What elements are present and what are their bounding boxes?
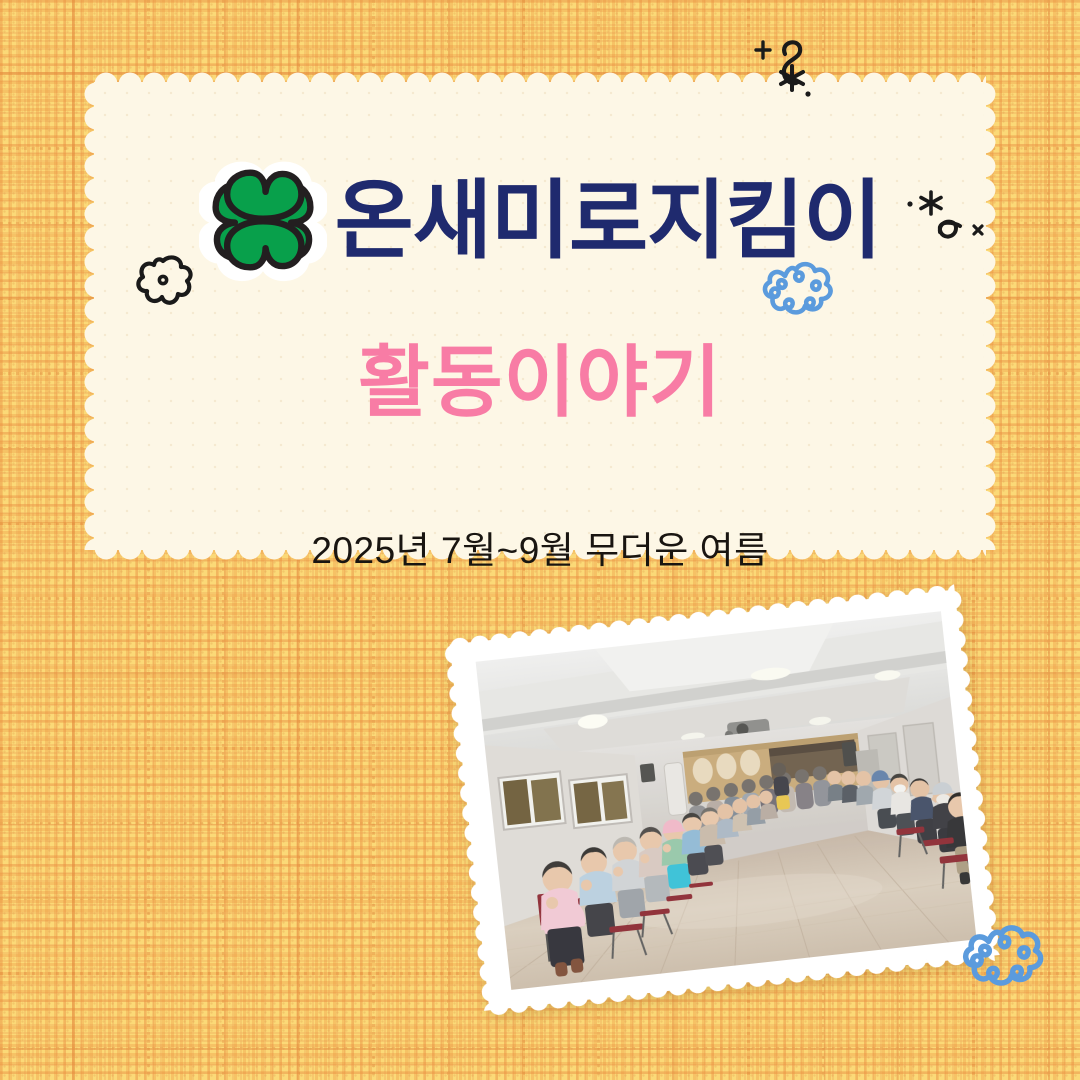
four-leaf-clover-icon	[199, 156, 327, 289]
date-range-label: 2025년 7월~9월 무더운 여름	[72, 532, 1008, 569]
activity-photo	[476, 611, 977, 990]
card-scallop-top	[94, 60, 986, 84]
page-subtitle: 활동이야기	[72, 343, 1008, 421]
page-title: 온새미로지킴이	[335, 178, 882, 264]
photo-card	[432, 572, 1012, 1028]
title-row: 온새미로지킴이	[72, 152, 1008, 289]
header-card: 온새미로지킴이 활동이야기 2025년 7월~9월 무더운 여름	[72, 60, 1008, 572]
